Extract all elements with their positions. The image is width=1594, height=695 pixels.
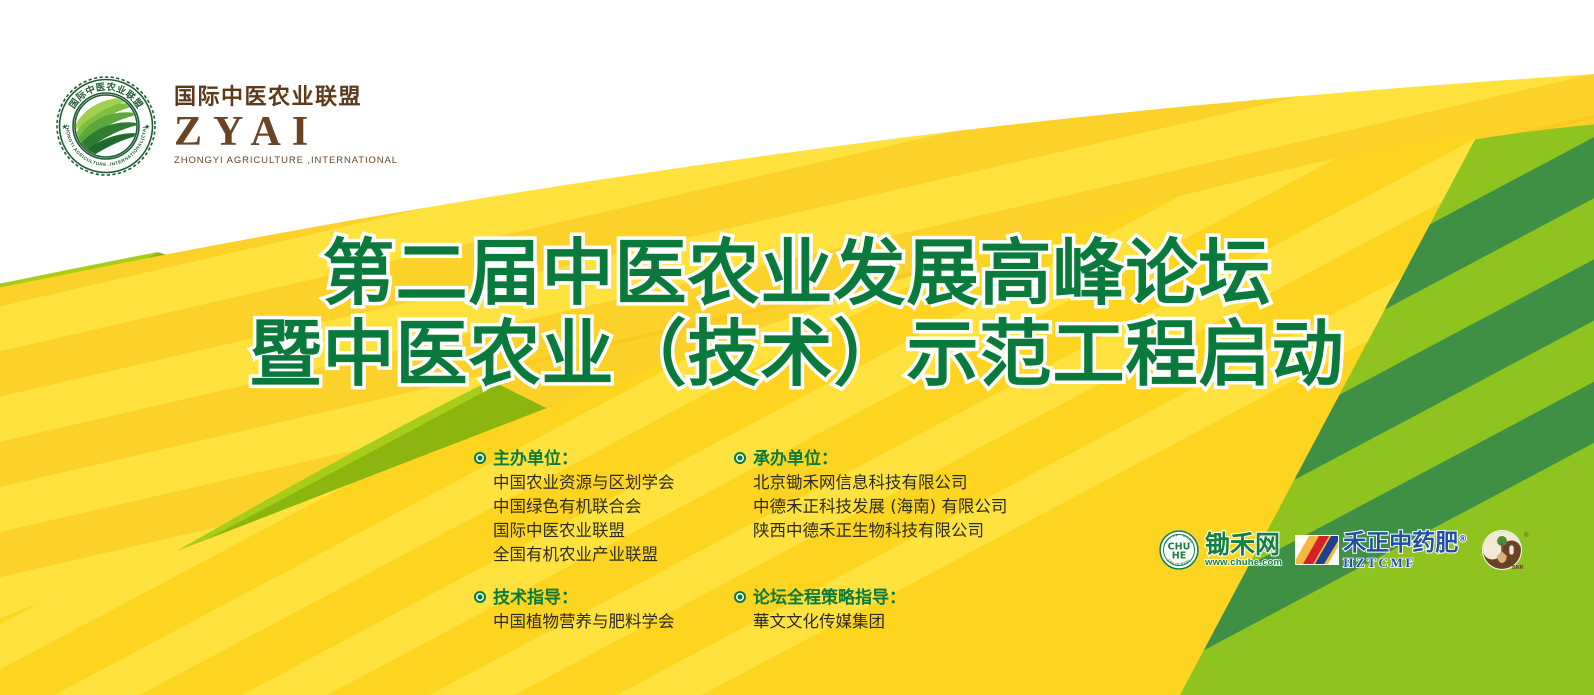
info-group-technical-guidance: 技术指导： 中国植物营养与肥料学会 xyxy=(474,587,724,634)
svg-text:SNR: SNR xyxy=(1512,565,1524,571)
chuhe-name: 锄禾网 xyxy=(1205,532,1282,557)
hezheng-mark-icon xyxy=(1295,535,1339,565)
sponsor-chuhe: CHU HE CHU HE · WANG CHU HE WANG 锄禾网 www… xyxy=(1158,529,1282,571)
organization-logo: 国际中医农业联盟 ZHONGYI AGRICULTURE .INTERNATIO… xyxy=(52,72,398,180)
list-item: 国际中医农业联盟 xyxy=(493,519,724,543)
sponsor-logo-row: CHU HE CHU HE · WANG CHU HE WANG 锄禾网 www… xyxy=(1158,528,1532,572)
svg-text:★: ★ xyxy=(144,123,150,131)
sponsor-hezheng: 禾正中药肥® HZTCMF xyxy=(1295,532,1467,569)
svg-text:★: ★ xyxy=(62,123,68,131)
hezheng-name-en: HZTCMF xyxy=(1343,556,1467,569)
trademark-icon: ® xyxy=(1458,534,1467,544)
list-item: 中国植物营养与肥料学会 xyxy=(493,610,724,634)
chuhe-seal-icon: CHU HE CHU HE · WANG CHU HE WANG xyxy=(1158,529,1200,571)
bullet-icon xyxy=(474,452,486,464)
info-column-left: 主办单位： 中国农业资源与区划学会 中国绿色有机联合会 国际中医农业联盟 全国有… xyxy=(474,448,724,647)
info-group-organizers: 主办单位： 中国农业资源与区划学会 中国绿色有机联合会 国际中医农业联盟 全国有… xyxy=(474,448,724,567)
chuhe-url: www.chuhe.com xyxy=(1205,558,1282,568)
group-heading: 承办单位： xyxy=(753,448,838,471)
zyai-seal-icon: 国际中医农业联盟 ZHONGYI AGRICULTURE .INTERNATIO… xyxy=(52,72,160,180)
bullet-icon xyxy=(734,591,746,603)
sponsor-tree-root-logo: ® SNR xyxy=(1480,528,1532,572)
org-name-cn: 国际中医农业联盟 xyxy=(174,87,398,109)
list-item: 全国有机农业产业联盟 xyxy=(493,543,724,567)
info-column-right: 承办单位： 北京锄禾网信息科技有限公司 中德禾正科技发展 (海南) 有限公司 陕… xyxy=(734,448,1034,648)
svg-text:HE: HE xyxy=(1172,551,1186,562)
list-item: 中德禾正科技发展 (海南) 有限公司 xyxy=(753,495,1034,519)
list-item: 中国绿色有机联合会 xyxy=(493,495,724,519)
hezheng-name-cn: 禾正中药肥® xyxy=(1343,532,1467,555)
list-item: 北京锄禾网信息科技有限公司 xyxy=(753,471,1034,495)
bullet-icon xyxy=(734,452,746,464)
list-item: 陕西中德禾正生物科技有限公司 xyxy=(753,519,1034,543)
group-heading: 技术指导： xyxy=(493,587,578,610)
org-abbr: ZYAI xyxy=(174,111,398,153)
group-heading: 主办单位： xyxy=(493,448,578,471)
list-item: 華文文化传媒集团 xyxy=(753,610,1034,634)
info-group-strategy-guidance: 论坛全程策略指导： 華文文化传媒集团 xyxy=(734,587,1034,634)
list-item: 中国农业资源与区划学会 xyxy=(493,471,724,495)
info-group-co-organizers: 承办单位： 北京锄禾网信息科技有限公司 中德禾正科技发展 (海南) 有限公司 陕… xyxy=(734,448,1034,543)
org-name-en: ZHONGYI AGRICULTURE ,INTERNATIONAL xyxy=(174,156,398,166)
bullet-icon xyxy=(474,591,486,603)
poster-canvas: 国际中医农业联盟 ZHONGYI AGRICULTURE .INTERNATIO… xyxy=(0,0,1594,695)
group-heading: 论坛全程策略指导： xyxy=(753,587,906,610)
trademark-icon: ® xyxy=(1524,532,1529,539)
